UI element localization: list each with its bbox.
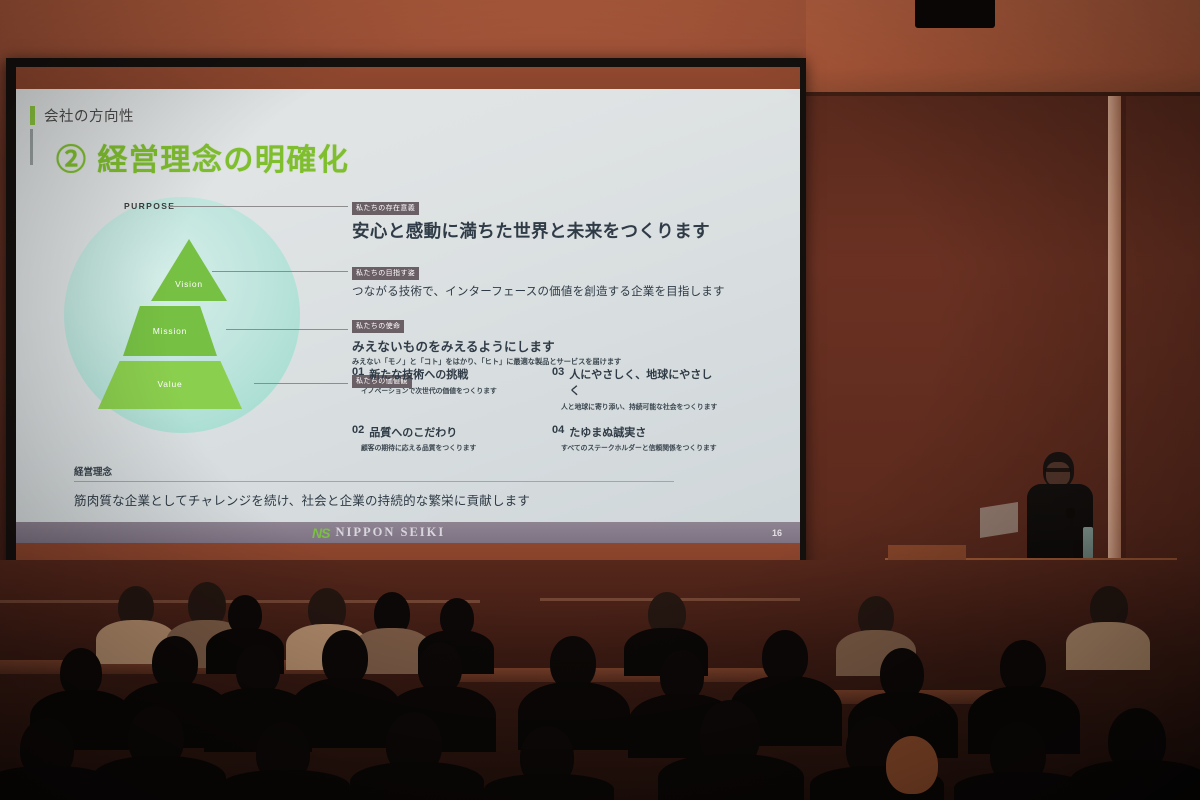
audience-shoulders <box>1066 622 1150 670</box>
ceiling-speaker-icon <box>915 0 995 28</box>
value-number: 01 <box>352 366 364 378</box>
audience-shoulders <box>220 770 350 800</box>
screen-top-band <box>16 67 800 89</box>
slide-kicker: 会社の方向性 <box>30 105 134 126</box>
value-description: イノベーションで次世代の価値をつくります <box>361 385 522 395</box>
value-item: 01 新たな技術への挑戦 イノベーションで次世代の価値をつくります <box>352 366 522 411</box>
wall-shadow-strip <box>1121 96 1126 566</box>
section-subtext: みえない「モノ」と「コト」をはかり、「ヒト」に最適な製品とサービスを届けます <box>352 357 621 367</box>
leader-line-vision <box>212 271 348 272</box>
brand-name: NIPPON SEIKI <box>335 525 445 540</box>
kicker-label: 会社の方向性 <box>44 105 134 126</box>
section-heading: 安心と感動に満ちた世界と未来をつくります <box>352 218 710 243</box>
kicker-accent-bar <box>30 106 35 125</box>
philosophy-divider <box>74 481 674 482</box>
value-description: すべてのステークホルダーと信頼関係をつくります <box>561 442 722 452</box>
audience-head <box>886 736 938 794</box>
value-title: 人にやさしく、地球にやさしく <box>569 366 722 398</box>
value-item: 03 人にやさしく、地球にやさしく 人と地球に寄り添い、持続可能な社会をつくりま… <box>552 366 722 411</box>
wall-light-strip <box>1108 96 1121 566</box>
values-grid: 01 新たな技術への挑戦 イノベーションで次世代の価値をつくります 03 人にや… <box>352 366 752 452</box>
pyramid-tier-value-label-wrap: Value <box>98 379 242 389</box>
lecture-hall-photo: 会社の方向性 ② 経営理念の明確化 PURPOSE Vision Mission… <box>0 0 1200 800</box>
value-item: 02 品質へのこだわり 顧客の期待に応える品質をつくります <box>352 424 522 453</box>
section-tag: 私たちの目指す姿 <box>352 267 419 280</box>
pyramid-tier-vision-label-wrap: Vision <box>151 279 227 289</box>
section-vision: 私たちの目指す姿 つながる技術で、インターフェースの価値を創造する企業を目指しま… <box>352 262 725 299</box>
audience-shoulders <box>658 754 804 800</box>
section-mission: 私たちの使命 みえないものをみえるようにします みえない「モノ」と「コト」をはか… <box>352 315 621 367</box>
title-vertical-rule <box>30 129 33 165</box>
nippon-seiki-logo-icon: NS <box>312 525 329 541</box>
value-title: たゆまぬ誠実さ <box>569 424 646 440</box>
value-description: 顧客の期待に応える品質をつくります <box>361 442 522 452</box>
presenter-face <box>1046 462 1070 486</box>
value-number: 04 <box>552 424 564 436</box>
leader-line-value <box>254 383 348 384</box>
section-heading: つながる技術で、インターフェースの価値を創造する企業を目指します <box>352 283 725 299</box>
slide-page-number: 16 <box>772 528 782 538</box>
pyramid-tier-label: Vision <box>151 279 227 289</box>
section-heading: みえないものをみえるようにします <box>352 336 621 355</box>
value-title: 品質へのこだわり <box>369 424 457 440</box>
leader-line-purpose <box>168 206 348 207</box>
audience-shoulders <box>1070 760 1200 800</box>
water-bottle <box>1083 527 1093 559</box>
presenter-glasses-icon <box>1045 468 1071 472</box>
value-title: 新たな技術への挑戦 <box>369 366 468 382</box>
brand-lockup: NS NIPPON SEIKI <box>312 525 445 541</box>
leader-line-mission <box>226 329 348 330</box>
pyramid-tier-vision <box>151 239 227 301</box>
philosophy-label: 経営理念 <box>74 464 112 478</box>
value-number: 03 <box>552 366 564 378</box>
audience-shoulders <box>484 774 614 800</box>
philosophy-text: 筋肉質な企業としてチャレンジを続け、社会と企業の持続的な繁栄に貢献します <box>74 490 530 509</box>
pyramid-tier-label: Value <box>98 379 242 389</box>
microphone-icon <box>1066 508 1075 518</box>
ceiling-band <box>0 0 810 58</box>
section-purpose: 私たちの存在意義 安心と感動に満ちた世界と未来をつくります <box>352 197 710 243</box>
wall-upper-right-panel <box>806 0 1200 96</box>
podium-laptop <box>980 502 1018 538</box>
pyramid-tier-mission-label-wrap: Mission <box>123 326 217 336</box>
presentation-slide: 会社の方向性 ② 経営理念の明確化 PURPOSE Vision Mission… <box>16 89 800 543</box>
audience-shoulders <box>954 772 1088 800</box>
audience-shoulders <box>92 756 226 800</box>
section-tag: 私たちの使命 <box>352 320 404 333</box>
value-item: 04 たゆまぬ誠実さ すべてのステークホルダーと信頼関係をつくります <box>552 424 722 453</box>
audience-shoulders <box>350 762 484 800</box>
slide-footer-bar: NS NIPPON SEIKI 16 <box>16 522 800 543</box>
value-description: 人と地球に寄り添い、持続可能な社会をつくります <box>561 401 722 411</box>
section-tag: 私たちの存在意義 <box>352 202 419 215</box>
slide-title: ② 経営理念の明確化 <box>56 135 349 179</box>
value-number: 02 <box>352 424 364 436</box>
pyramid-tier-label: Mission <box>123 326 217 336</box>
